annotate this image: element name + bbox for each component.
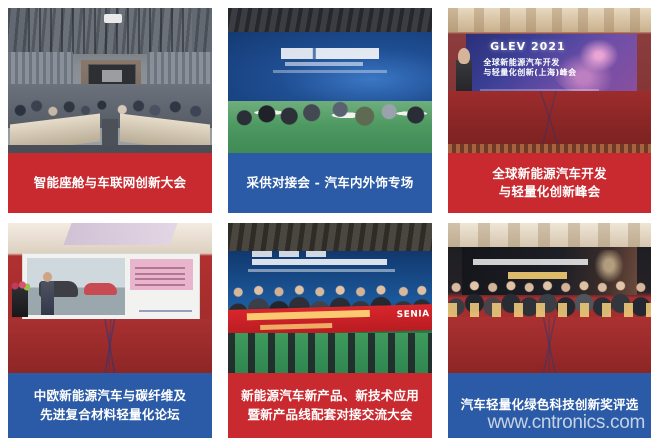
stage-floor-lines bbox=[448, 91, 651, 145]
caption-line: 采供对接会 - 汽车内外饰专场 bbox=[247, 174, 414, 192]
slide-title-block bbox=[130, 259, 193, 289]
slide-footer-text bbox=[139, 310, 192, 312]
caption-line: 新能源汽车新产品、新技术应用 bbox=[241, 387, 419, 405]
backdrop-title-text bbox=[252, 259, 387, 265]
stage-apron bbox=[448, 144, 651, 153]
forum-speaker-stage-photo bbox=[8, 223, 212, 373]
led-backdrop-screen: GLEV 2021 全球新能源汽车开发 与轻量化创新(上海)峰会 bbox=[466, 34, 637, 98]
gallery-card-4[interactable]: 中欧新能源汽车与碳纤维及 先进复合材料轻量化论坛 bbox=[8, 223, 212, 438]
floor bbox=[8, 145, 212, 153]
projector-icon bbox=[104, 14, 122, 23]
booth-banner-subtitle bbox=[285, 62, 363, 66]
matchmaking-booth-photo bbox=[228, 8, 432, 153]
event-photo-gallery: 智能座舱与车联网创新大会 采供对接会 - 汽车内外饰专场 bbox=[8, 8, 651, 438]
gallery-card-1[interactable]: 智能座舱与车联网创新大会 bbox=[8, 8, 212, 213]
gallery-card-2[interactable]: 采供对接会 - 汽车内外饰专场 bbox=[228, 8, 432, 213]
booth-banner-title bbox=[281, 48, 379, 59]
ceiling-structure bbox=[228, 8, 432, 34]
ceiling-beams bbox=[448, 223, 651, 247]
gallery-card-5[interactable]: SENIA 新能源汽车新产品、新技术应用 暨新产品线配套对接交流大会 bbox=[228, 223, 432, 438]
conference-hall-audience-photo bbox=[8, 8, 212, 153]
gallery-card-1-caption: 智能座舱与车联网创新大会 bbox=[8, 153, 212, 213]
hall-ceiling bbox=[228, 223, 432, 253]
ceiling-slats bbox=[448, 8, 651, 32]
people-heads bbox=[448, 275, 651, 295]
award-ceremony-group-photo bbox=[448, 223, 651, 373]
backdrop-subtitle-text bbox=[248, 269, 395, 272]
gallery-card-3[interactable]: GLEV 2021 全球新能源汽车开发 与轻量化创新(上海)峰会 全球新能源汽车… bbox=[448, 8, 651, 213]
gallery-card-6-caption: 汽车轻量化绿色科技创新奖评选 bbox=[448, 373, 651, 438]
banner-logo-senia: SENIA bbox=[396, 309, 429, 320]
people-legs bbox=[228, 333, 432, 373]
caption-line: 中欧新能源汽车与碳纤维及 bbox=[34, 387, 186, 405]
sponsor-logo-row bbox=[252, 251, 342, 257]
seated-attendees bbox=[228, 87, 432, 143]
award-certificates bbox=[448, 303, 651, 317]
caption-line: 暨新产品线配套对接交流大会 bbox=[241, 406, 419, 424]
speaker-person bbox=[458, 48, 470, 64]
stage-flowers bbox=[10, 281, 30, 291]
banner-text-line1 bbox=[247, 310, 370, 320]
people-heads bbox=[228, 279, 432, 301]
booth-banner-footnote bbox=[273, 70, 387, 73]
glev-banner-title: GLEV 2021 bbox=[490, 40, 566, 53]
gallery-card-5-caption: 新能源汽车新产品、新技术应用 暨新产品线配套对接交流大会 bbox=[228, 373, 432, 438]
caption-line: 智能座舱与车联网创新大会 bbox=[34, 174, 186, 192]
group-photo-red-banner: SENIA bbox=[228, 223, 432, 373]
podium bbox=[12, 287, 28, 317]
speaker-person bbox=[41, 281, 54, 315]
backdrop-title-text bbox=[473, 259, 588, 265]
caption-line: 与轻量化创新峰会 bbox=[492, 183, 606, 201]
gallery-card-4-caption: 中欧新能源汽车与碳纤维及 先进复合材料轻量化论坛 bbox=[8, 373, 212, 438]
caption-line: 汽车轻量化绿色科技创新奖评选 bbox=[461, 396, 639, 414]
stage-floor-lines bbox=[448, 317, 651, 373]
caption-line: 全球新能源汽车开发 bbox=[492, 165, 606, 183]
banner-text-line2 bbox=[260, 323, 332, 330]
caption-line: 先进复合材料轻量化论坛 bbox=[34, 406, 186, 424]
stage-floor-lines bbox=[8, 319, 212, 373]
glev-banner-line2: 与轻量化创新(上海)峰会 bbox=[483, 67, 576, 78]
glev-summit-stage-photo: GLEV 2021 全球新能源汽车开发 与轻量化创新(上海)峰会 bbox=[448, 8, 651, 153]
gallery-card-3-caption: 全球新能源汽车开发 与轻量化创新峰会 bbox=[448, 153, 651, 213]
gallery-card-6[interactable]: 汽车轻量化绿色科技创新奖评选 www.cntronics.com bbox=[448, 223, 651, 438]
ceiling-curve-accent bbox=[64, 223, 181, 245]
gallery-card-2-caption: 采供对接会 - 汽车内外饰专场 bbox=[228, 153, 432, 213]
